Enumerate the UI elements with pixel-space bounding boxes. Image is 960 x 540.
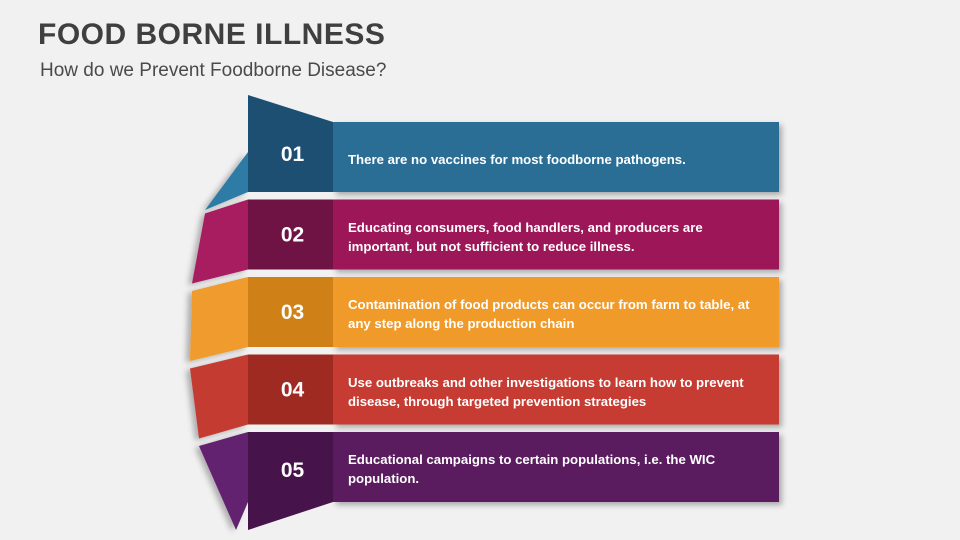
chevron-row-text: Educating consumers, food handlers, and … — [348, 202, 768, 272]
chevron-row-text: Educational campaigns to certain populat… — [348, 434, 768, 504]
chevron-side-face — [192, 200, 248, 284]
slide-canvas: FOOD BORNE ILLNESS How do we Prevent Foo… — [0, 0, 960, 540]
chevron-side-face — [205, 95, 248, 210]
chevron-side-face — [190, 277, 248, 361]
chevron-side-face — [190, 355, 248, 439]
chevron-row-number: 02 — [281, 224, 304, 247]
chevron-row-text: Contamination of food products can occur… — [348, 279, 768, 349]
chevron-row-number: 03 — [281, 301, 304, 324]
chevron-side-face — [199, 432, 248, 530]
chevron-row-number: 04 — [281, 379, 305, 402]
chevron-row-text: Use outbreaks and other investigations t… — [348, 357, 768, 427]
chevron-row-text: There are no vaccines for most foodborne… — [348, 124, 768, 194]
chevron-row-number: 05 — [281, 459, 305, 482]
chevron-row-number: 01 — [281, 143, 305, 166]
